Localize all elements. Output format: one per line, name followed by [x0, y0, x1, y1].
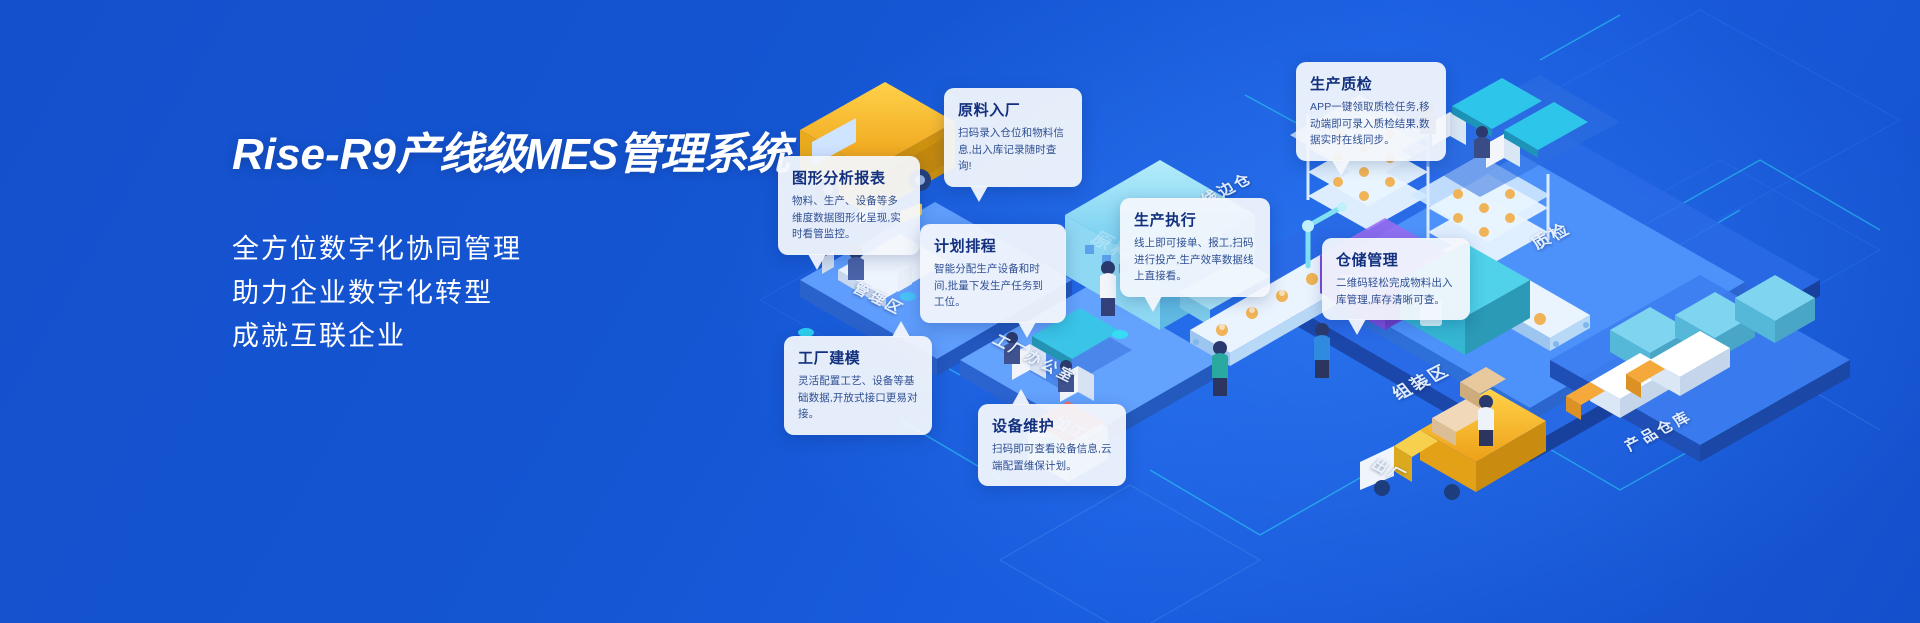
callout-tail	[970, 186, 988, 202]
callout-title: 工厂建模	[798, 347, 918, 368]
callout-tail	[1018, 322, 1036, 338]
callout-graphic-report[interactable]: 图形分析报表 物料、生产、设备等多维度数据图形化呈现,实时看管监控。	[778, 156, 920, 255]
glow-dot-3	[900, 292, 916, 301]
callout-factory-modeling[interactable]: 工厂建模 灵活配置工艺、设备等基础数据,开放式接口更易对接。	[784, 336, 932, 435]
callout-production-execution[interactable]: 生产执行 线上即可接单、报工,扫码进行投产,生产效率数据线上直接看。	[1120, 198, 1270, 297]
callout-title: 设备维护	[992, 415, 1112, 436]
callout-title: 计划排程	[934, 235, 1052, 256]
callout-desc: 线上即可接单、报工,扫码进行投产,生产效率数据线上直接看。	[1134, 235, 1256, 285]
worker-assembly	[1314, 323, 1330, 378]
callout-tail	[1144, 296, 1162, 312]
callout-material-inbound[interactable]: 原料入厂 扫码录入仓位和物料信息,出入库记录随时查询!	[944, 88, 1082, 187]
hero-banner: Rise-R9产线级MES管理系统 全方位数字化协同管理 助力企业数字化转型 成…	[0, 0, 1920, 623]
callout-equipment-maintenance[interactable]: 设备维护 扫码即可查看设备信息,云端配置维保计划。	[978, 404, 1126, 486]
callout-desc: 智能分配生产设备和时间,批量下发生产任务到工位。	[934, 261, 1052, 311]
callout-title: 生产执行	[1134, 209, 1256, 230]
callout-desc: 扫码录入仓位和物料信息,出入库记录随时查询!	[958, 125, 1068, 175]
callout-title: 图形分析报表	[792, 167, 906, 188]
callout-title: 原料入厂	[958, 99, 1068, 120]
headline-cn: 产线级MES管理系统	[396, 130, 789, 179]
callout-desc: 扫码即可查看设备信息,云端配置维保计划。	[992, 441, 1112, 474]
callout-tail	[1348, 319, 1366, 335]
worker-inspector	[1100, 261, 1116, 316]
worker-processing	[1212, 341, 1228, 396]
callout-desc: 物料、生产、设备等多维度数据图形化呈现,实时看管监控。	[792, 193, 906, 243]
callout-desc: 灵活配置工艺、设备等基础数据,开放式接口更易对接。	[798, 373, 918, 423]
callout-tail	[1332, 160, 1350, 176]
callout-title: 仓储管理	[1336, 249, 1456, 270]
callout-tail	[808, 254, 826, 270]
callout-desc: 二维码轻松完成物料出入库管理,库存清晰可查。	[1336, 275, 1456, 308]
callout-tail	[1012, 389, 1030, 405]
callout-desc: APP一键领取质检任务,移动端即可录入质检结果,数据实时在线同步。	[1310, 99, 1432, 149]
callout-plan-scheduling[interactable]: 计划排程 智能分配生产设备和时间,批量下发生产任务到工位。	[920, 224, 1066, 323]
callout-warehouse-management[interactable]: 仓储管理 二维码轻松完成物料出入库管理,库存清晰可查。	[1322, 238, 1470, 320]
glow-dot-2	[1112, 330, 1128, 339]
callout-title: 生产质检	[1310, 73, 1432, 94]
callout-tail	[892, 321, 910, 337]
callout-quality-inspection[interactable]: 生产质检 APP一键领取质检任务,移动端即可录入质检结果,数据实时在线同步。	[1296, 62, 1446, 161]
brand-name: Rise-R9	[232, 130, 396, 179]
